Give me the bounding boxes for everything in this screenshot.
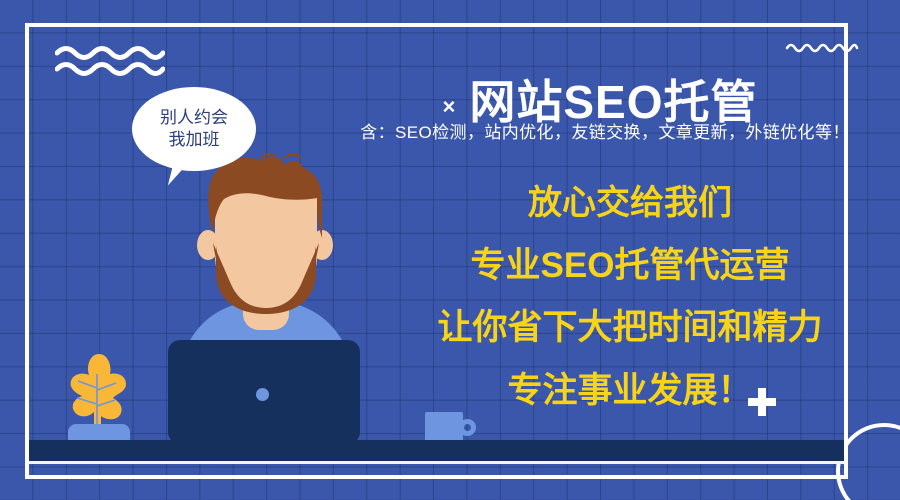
speech-bubble: 别人约会 我加班	[132, 87, 256, 171]
mug-handle	[459, 419, 476, 436]
potted-plant-icon	[58, 348, 144, 448]
seo-poster: × 网站SEO托管 含：SEO检测，站内优化，友链交换，文章更新，外链优化等！ …	[0, 0, 900, 500]
desk-surface	[29, 440, 844, 462]
desk-edge-highlight	[29, 461, 844, 464]
speech-bubble-line-1: 别人约会	[160, 107, 228, 129]
laptop-logo-dot	[256, 388, 269, 401]
speech-bubble-line-2: 我加班	[169, 129, 220, 151]
laptop	[168, 340, 360, 444]
